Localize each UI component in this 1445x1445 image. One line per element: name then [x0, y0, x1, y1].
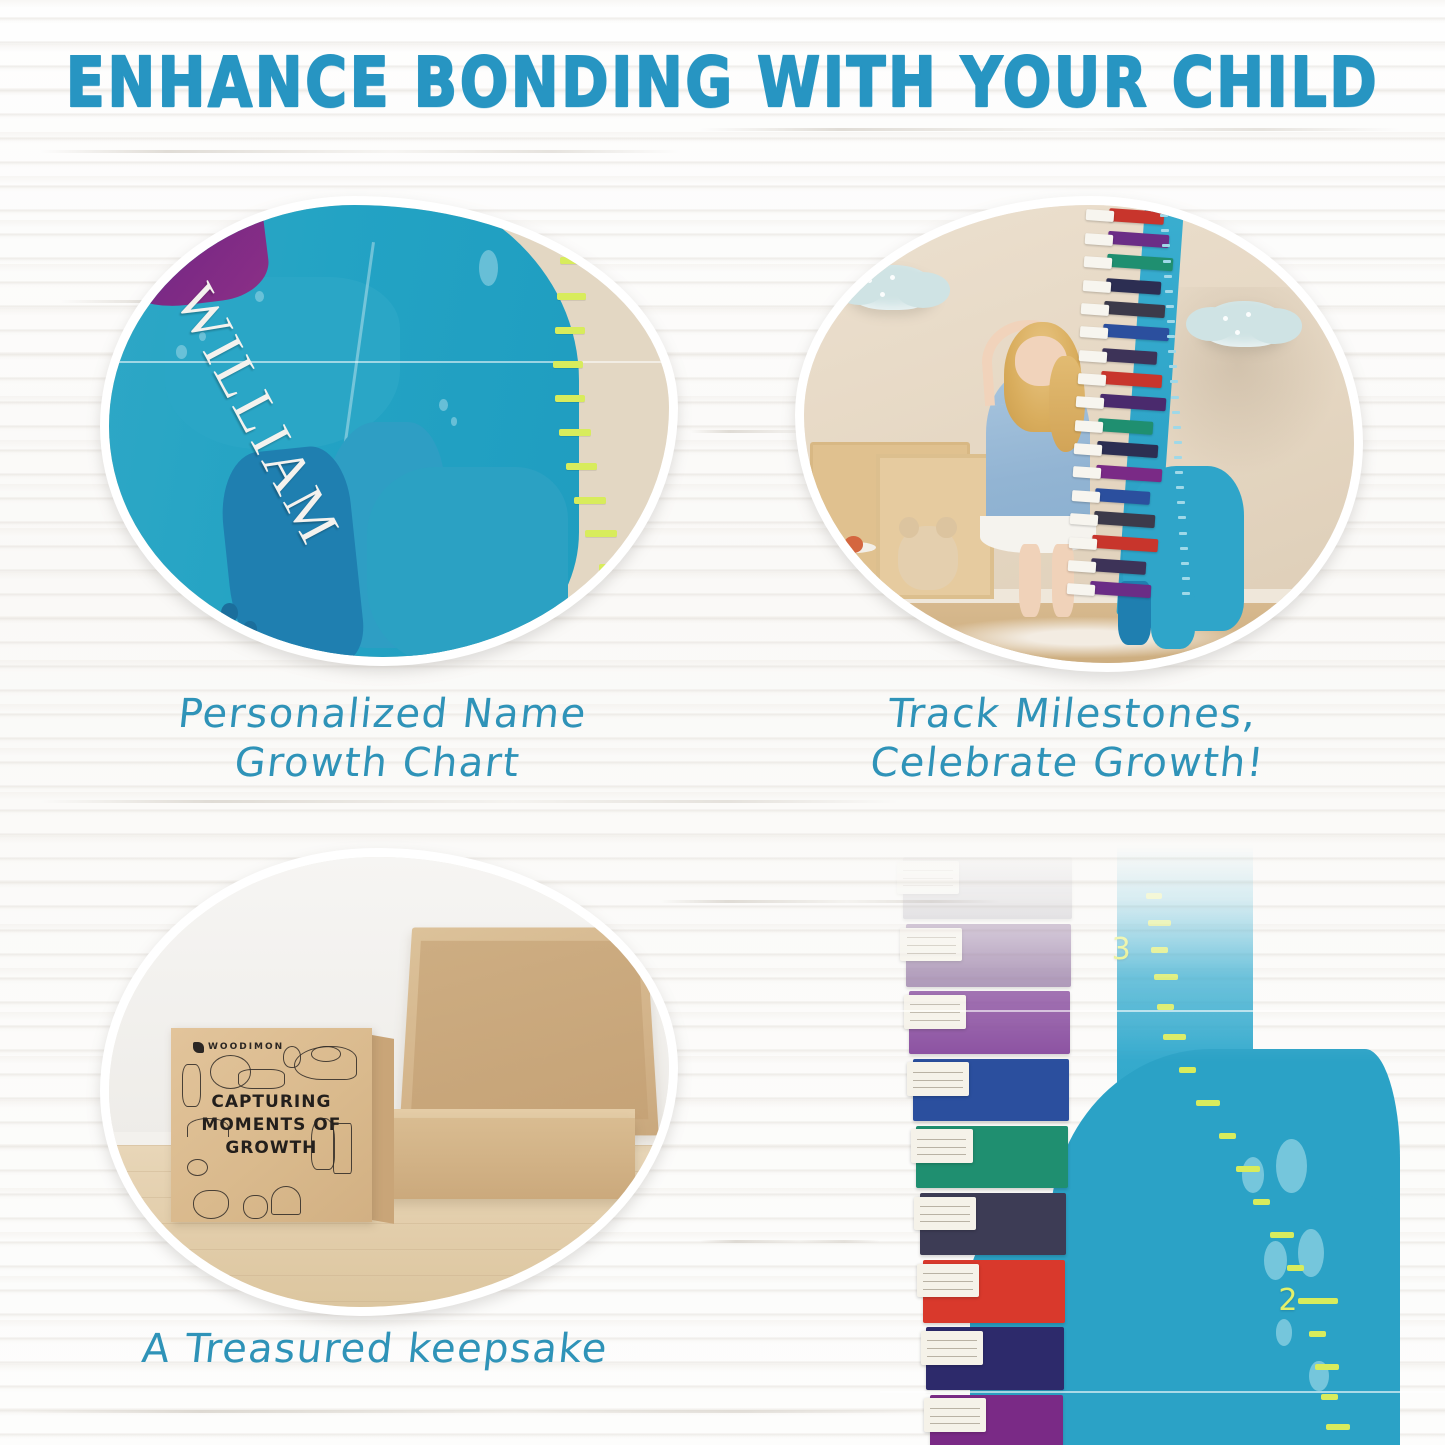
fruit-plate [832, 542, 876, 553]
milestone-label [897, 861, 959, 895]
cloud-pillow [1200, 301, 1288, 347]
ruler-tick [1182, 577, 1190, 580]
plush-toy [815, 560, 870, 597]
ruler-tick [1182, 592, 1190, 595]
doodle-leopard [243, 1195, 267, 1220]
brand-mark-icon [193, 1042, 204, 1053]
ruler-tick [1174, 441, 1182, 444]
ruler-tick [555, 395, 585, 402]
ruler-tick [1167, 335, 1175, 338]
ruler-tick [1196, 1100, 1220, 1106]
ruler-tick [1163, 1034, 1187, 1040]
photo-chart-detail: 3 2 [880, 845, 1445, 1445]
doodle-rainbow [187, 1118, 228, 1137]
milestone-label [1085, 233, 1113, 245]
texture-streak [20, 1410, 920, 1413]
doodle-cloud [311, 1046, 341, 1062]
ruler-tick [1253, 1199, 1270, 1205]
milestone-label [914, 1197, 976, 1231]
milestone-label [1069, 537, 1097, 549]
cloud-pillow [848, 265, 936, 311]
doodle-toucan [193, 1190, 229, 1219]
ruler-tick [1168, 350, 1176, 353]
texture-streak [40, 800, 900, 803]
brand-logo: WOODIMON [193, 1042, 284, 1053]
ruler-tick [1321, 1394, 1338, 1400]
photo-personalized-name-closeup: WILLIAM [109, 205, 669, 657]
ruler-number-2: 2 [1278, 1283, 1297, 1318]
ruler-tick [1175, 471, 1183, 474]
ruler-tick [1174, 456, 1182, 459]
ruler-tick [560, 257, 589, 264]
ruler-tick [1236, 1166, 1260, 1172]
ruler-tick [1157, 1004, 1174, 1010]
milestone-label [1079, 350, 1107, 362]
brand-name: WOODIMON [208, 1042, 284, 1052]
milestone-label [1075, 420, 1103, 432]
caption-track-milestones: Track Milestones, Celebrate Growth! [790, 690, 1350, 788]
ruler-tick [557, 293, 586, 300]
ruler-tick [574, 497, 606, 504]
doodle-giraffe [311, 1118, 335, 1170]
texture-streak [700, 128, 1400, 131]
ruler-tick [585, 530, 617, 537]
ruler-tick [1162, 244, 1170, 247]
doodle-balloon [283, 1046, 302, 1068]
teddy-bear [898, 526, 959, 590]
ruler-tick [1326, 1424, 1350, 1430]
ruler-tick [1151, 947, 1168, 953]
milestone-label [1077, 373, 1105, 385]
ruler-tick [1176, 486, 1184, 489]
page-background: ENHANCE BONDING WITH YOUR CHILD WILLIAM [0, 0, 1445, 1445]
caption-treasured-keepsake: A Treasured keepsake [92, 1325, 657, 1374]
ruler-tick [1169, 365, 1177, 368]
ruler-tick [1180, 547, 1188, 550]
ruler-tick [1179, 1067, 1196, 1073]
milestone-label [1068, 560, 1096, 572]
ruler-tick [1171, 396, 1179, 399]
ruler-tick [1164, 275, 1172, 278]
milestone-label [1071, 490, 1099, 502]
ruler-tick [1163, 260, 1171, 263]
panel-personalized-name[interactable]: WILLIAM [100, 196, 678, 666]
milestone-label [924, 1398, 986, 1432]
ruler-tick [1148, 920, 1171, 926]
ruler-tick [613, 598, 647, 605]
doodle-palm [271, 1186, 301, 1215]
ruler-tick [1173, 426, 1181, 429]
ruler-tick [1270, 1232, 1294, 1238]
ruler-tick [1219, 1133, 1236, 1139]
milestone-label [1070, 513, 1098, 525]
ruler-tick [1154, 974, 1178, 980]
ruler-tick [1298, 1298, 1338, 1304]
ruler-tick [1177, 501, 1185, 504]
doodle-cactus [182, 1064, 201, 1107]
ruler-tick [1166, 305, 1174, 308]
ruler-tick [559, 429, 590, 436]
milestone-label [1066, 583, 1094, 595]
doodle-zebra [333, 1123, 352, 1175]
texture-streak [700, 1240, 880, 1243]
milestone-label [911, 1129, 973, 1163]
photo-packaging-box: WOODIMON CAPTURING MOMENTS OF GROWTH [109, 857, 669, 1307]
ruler-tick [555, 327, 585, 334]
milestone-label [917, 1264, 979, 1298]
ruler-tick [1172, 411, 1180, 414]
milestone-label [1074, 443, 1102, 455]
panel-treasured-keepsake[interactable]: WOODIMON CAPTURING MOMENTS OF GROWTH [100, 848, 678, 1316]
ruler-tick [1161, 229, 1169, 232]
milestone-label [921, 1331, 983, 1365]
panel-ruler-detail[interactable]: 3 2 [880, 845, 1445, 1445]
ruler-tick [1178, 516, 1186, 519]
ruler-tick [1287, 1265, 1304, 1271]
page-title: ENHANCE BONDING WITH YOUR CHILD [0, 44, 1445, 123]
ruler-tick [1146, 893, 1163, 899]
ruler-tick [1165, 290, 1173, 293]
ruler-tick [553, 361, 583, 368]
ruler-tick [566, 463, 597, 470]
milestone-label [1083, 256, 1111, 268]
ruler-tick [1179, 532, 1187, 535]
doodle-sun [187, 1159, 208, 1176]
ruler-tick [1315, 1364, 1339, 1370]
ruler-tick [1181, 562, 1189, 565]
doodle-lion-body [238, 1069, 285, 1089]
ruler-tick [599, 564, 633, 571]
milestone-label [1082, 280, 1110, 292]
ruler-tick [1309, 1331, 1326, 1337]
milestone-label [900, 928, 962, 962]
ruler-tick [1167, 320, 1175, 323]
ruler-tick [1160, 214, 1168, 217]
photo-child-measuring-height [804, 205, 1354, 663]
open-box-lid [399, 927, 659, 1134]
ruler-number-3: 3 [1112, 932, 1131, 967]
texture-streak [40, 150, 680, 153]
caption-personalized-name: Personalized Name Growth Chart [95, 690, 665, 788]
panel-track-milestones[interactable] [795, 196, 1363, 672]
milestone-label [1081, 303, 1109, 315]
milestone-label [907, 1062, 969, 1096]
milestone-label [1080, 326, 1108, 338]
ruler-tick [1170, 380, 1178, 383]
